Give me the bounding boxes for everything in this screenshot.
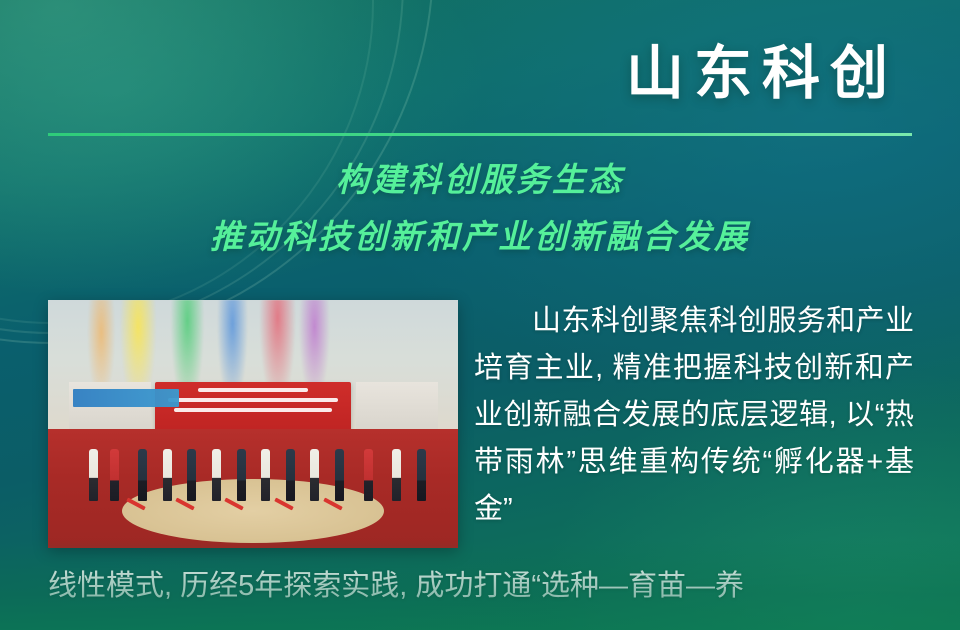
title-divider-rule	[48, 133, 912, 136]
photo-person	[89, 449, 98, 501]
photo-person	[392, 449, 401, 501]
photo-person	[163, 449, 172, 501]
photo-person	[261, 449, 270, 501]
photo-person	[138, 449, 147, 501]
backdrop-text-line-1	[198, 388, 308, 392]
photo-person	[286, 449, 295, 501]
photo-sand-pit	[122, 479, 384, 543]
poster-canvas: 山东科创 构建科创服务生态 推动科技创新和产业创新融合发展	[0, 0, 960, 630]
backdrop-text-line-3	[174, 408, 331, 412]
backdrop-text-line-2	[168, 398, 337, 402]
body-paragraph-continuation: 线性模式, 历经5年探索实践, 成功打通“选种—育苗—养	[48, 566, 914, 607]
poster-title: 山东科创	[626, 44, 898, 105]
subtitle-line-1: 构建科创服务生态	[0, 152, 960, 209]
photo-person	[364, 449, 373, 501]
body-paragraph-right: 山东科创聚焦科创服务和产业培育主业, 精准把握科技创新和产业创新融合发展的底层逻…	[474, 298, 914, 533]
photo-person	[110, 449, 119, 501]
photo-person	[237, 449, 246, 501]
subtitle-line-2: 推动科技创新和产业创新融合发展	[0, 209, 960, 266]
photo-person	[417, 449, 426, 501]
photo-person	[187, 449, 196, 501]
poster-subtitle: 构建科创服务生态 推动科技创新和产业创新融合发展	[0, 152, 960, 266]
photo-person	[310, 449, 319, 501]
event-photo	[48, 300, 458, 548]
photo-person	[212, 449, 221, 501]
body-paragraph-text: 山东科创聚焦科创服务和产业培育主业, 精准把握科技创新和产业创新融合发展的底层逻…	[474, 298, 914, 533]
photo-person	[335, 449, 344, 501]
photo-banner-logo	[73, 389, 180, 406]
